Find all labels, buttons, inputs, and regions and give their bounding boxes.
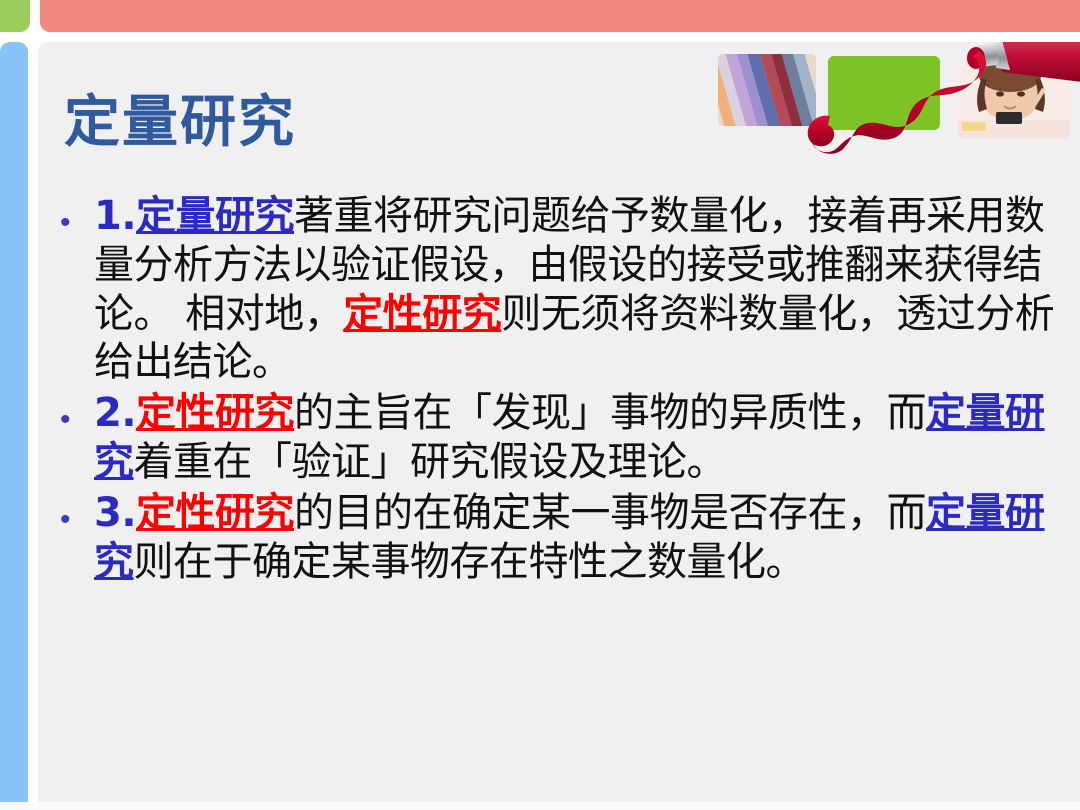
bullet-number: 2. xyxy=(94,390,136,436)
body-run: 则在于确定某事物存在特性之数量化。 xyxy=(134,539,806,585)
keyword-quantitative: 定量研究 xyxy=(136,193,294,239)
page-title: 定量研究 xyxy=(64,94,296,153)
keyword-qualitative: 定性研究 xyxy=(136,490,294,536)
bullet-text-2: 2.定性研究的主旨在「发现」事物的异质性，而定量研究着重在「验证」研究假设及理论… xyxy=(94,389,1060,487)
list-item: • 3.定性研究的目的在确定某一事物是否存在，而定量研究则在于确定某事物存在特性… xyxy=(60,489,1060,587)
body-run: 着重在「验证」研究假设及理论。 xyxy=(134,439,727,485)
crayons-photo-icon xyxy=(710,42,827,158)
bullet-marker-icon: • xyxy=(60,192,94,238)
bullet-text-3: 3.定性研究的目的在确定某一事物是否存在，而定量研究则在于确定某事物存在特性之数… xyxy=(94,489,1060,587)
keyword-qualitative: 定性研究 xyxy=(136,390,294,436)
decor-green-corner xyxy=(0,0,30,32)
list-item: • 2.定性研究的主旨在「发现」事物的异质性，而定量研究着重在「验证」研究假设及… xyxy=(60,389,1060,487)
bullet-marker-icon: • xyxy=(60,389,94,435)
bullet-text-1: 1.定量研究著重将研究问题给予数量化，接着再采用数量分析方法以验证假设，由假设的… xyxy=(94,192,1060,387)
list-item: • 1.定量研究著重将研究问题给予数量化，接着再采用数量分析方法以验证假设，由假… xyxy=(60,192,1060,387)
bullet-list: • 1.定量研究著重将研究问题给予数量化，接着再采用数量分析方法以验证假设，由假… xyxy=(60,192,1060,588)
green-swatch-icon xyxy=(828,56,940,130)
bullet-number: 1. xyxy=(94,193,136,239)
slide-bottom-edge xyxy=(0,802,1080,810)
bullet-marker-icon: • xyxy=(60,489,94,535)
body-run: 的主旨在「发现」事物的异质性，而 xyxy=(294,390,926,436)
slide-content-panel: 定量研究 xyxy=(38,42,1080,802)
decor-pink-top-bar xyxy=(40,0,1080,32)
keyword-qualitative: 定性研究 xyxy=(343,291,501,337)
decor-banner xyxy=(710,42,1080,162)
slide: 定量研究 xyxy=(0,0,1080,810)
decor-blue-side-bar xyxy=(0,42,28,802)
bullet-number: 3. xyxy=(94,490,136,536)
body-run: 的目的在确定某一事物是否存在，而 xyxy=(294,490,926,536)
